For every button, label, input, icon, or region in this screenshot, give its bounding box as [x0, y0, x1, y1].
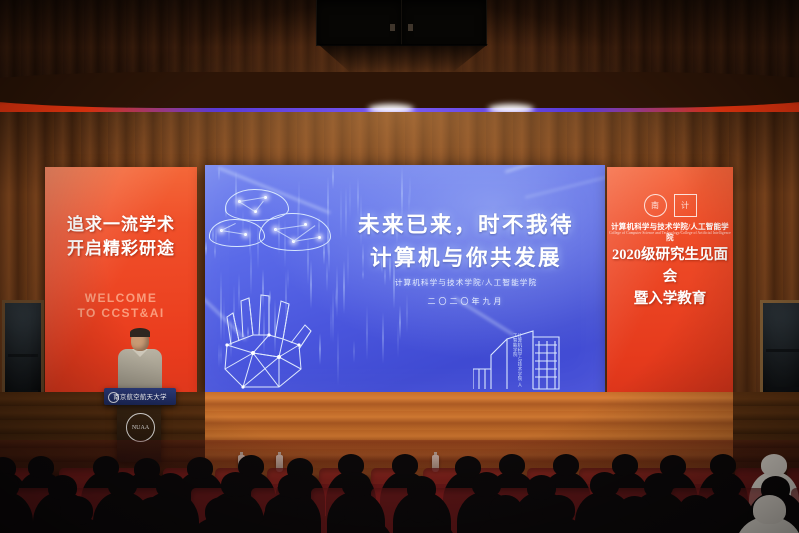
projection-screen: 计算机科学与技术学院 人工智能学院 未来已来，时不我待 计算机与你共发展 计算机… [205, 165, 605, 393]
audience-member-head [712, 473, 741, 498]
slide-date: 二〇二〇年九月 [335, 296, 597, 307]
podium-nameplate-text: 南京航空航天大学 [113, 392, 167, 401]
audience-member-head [753, 495, 786, 524]
audience-member-head [28, 456, 54, 478]
left-banner-sub1: WELCOME [45, 291, 197, 306]
audience-member-head [344, 498, 377, 527]
audience-member-head [472, 472, 501, 497]
building-vertical-label: 计算机科学与技术学院 人工智能学院 [513, 333, 522, 391]
slide-organization: 计算机科学与技术学院/人工智能学院 [335, 277, 597, 288]
audience-member-head [60, 496, 93, 525]
right-banner-organization-en: College of Computer Science and Technolo… [609, 231, 731, 235]
left-banner-sub2: TO CCST&AI [45, 306, 197, 321]
slide-title: 未来已来，时不我待 计算机与你共发展 [335, 209, 597, 274]
audience-member-head [134, 458, 160, 480]
audience-member-head [499, 454, 525, 476]
audience-member-head [342, 472, 371, 497]
audience-member-head [205, 497, 238, 526]
loudspeaker-icon-left [316, 0, 402, 46]
podium-seal-icon [108, 392, 119, 403]
right-banner-headline: 2020级研究生见面会 暨入学教育 [607, 245, 733, 310]
building-outline-icon: 计算机科学与技术学院 人工智能学院 [473, 325, 599, 391]
audience-member-head [590, 472, 619, 497]
right-banner-line2: 暨入学教育 [607, 289, 733, 311]
audience-member-head [392, 454, 418, 476]
wireframe-hand-icon [213, 283, 337, 391]
left-banner-line1: 追求一流学术 [45, 213, 197, 237]
college-seal-icon: 计 [674, 194, 697, 217]
audience-member-head [612, 454, 638, 476]
audience-member-head [156, 473, 185, 498]
right-banner-line1: 2020级研究生见面会 [607, 245, 733, 289]
slide-title-line2: 计算机与你共发展 [335, 242, 597, 275]
university-seal-icon: 南 [644, 194, 667, 217]
university-seal-icon-podium: NUAA [126, 413, 155, 442]
audience-member-head [187, 457, 213, 479]
audience-member-head [108, 472, 137, 497]
audience-member-head [761, 454, 787, 476]
left-banner-subtitle: WELCOME TO CCST&AI [45, 291, 197, 321]
soffit-mask [0, 72, 799, 108]
audience-member-head [542, 495, 575, 524]
left-banner-slogan: 追求一流学术 开启精彩研途 [45, 213, 197, 261]
university-seal-icon-group: 南 计 [607, 194, 733, 217]
audience-member-head [553, 454, 579, 476]
audience-member-head [489, 495, 522, 524]
presenter-figure [116, 330, 164, 392]
speaker-led [390, 24, 395, 31]
audience-member-head [644, 473, 673, 498]
audience-member-head [221, 472, 250, 497]
door-rail [766, 349, 799, 352]
audience-member-head [265, 496, 298, 525]
presenter-hair [130, 328, 150, 337]
audience-member-head [618, 496, 651, 525]
audience-area [0, 440, 799, 533]
light-streak [505, 165, 605, 173]
auditorium-scene: 追求一流学术 开启精彩研途 WELCOME TO CCST&AI [0, 0, 799, 533]
audience-member-head [407, 494, 440, 523]
audience-member-head [137, 497, 170, 526]
audience-member-head [679, 495, 712, 524]
slide-title-line1: 未来已来，时不我待 [335, 209, 597, 242]
door-rail [8, 354, 38, 357]
loudspeaker-icon-right [401, 0, 487, 46]
light-streak [525, 175, 605, 198]
speaker-led [408, 24, 413, 31]
door-rail [766, 387, 799, 390]
left-banner-line2: 开启精彩研途 [45, 237, 197, 261]
